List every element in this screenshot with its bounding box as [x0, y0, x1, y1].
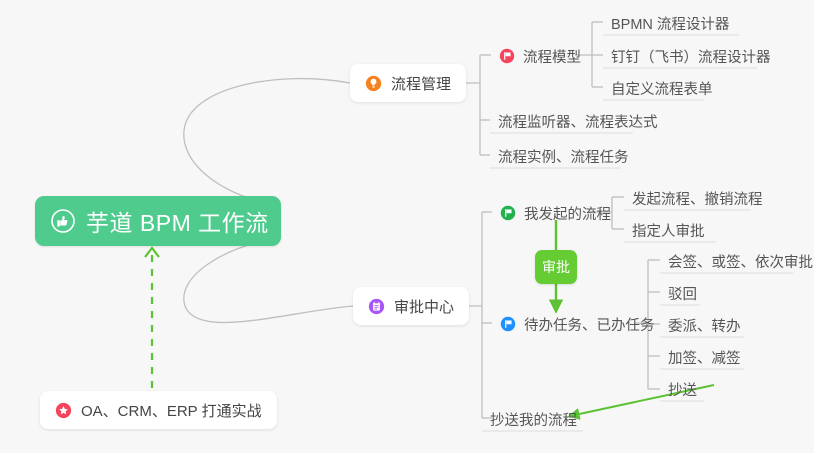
branch-label: 流程管理	[391, 73, 451, 94]
leaf-label: 钉钉（飞书）流程设计器	[611, 46, 771, 67]
leaf-label: 加签、减签	[668, 347, 741, 368]
leaf-reject[interactable]: 驳回	[660, 278, 705, 308]
branch-label: 审批中心	[394, 296, 454, 317]
flag-icon	[499, 48, 515, 64]
leaf-label: 发起流程、撤销流程	[632, 188, 763, 209]
leaf-bpmn-designer[interactable]: BPMN 流程设计器	[603, 8, 737, 38]
node-todo-done-tasks[interactable]: 待办任务、已办任务	[492, 309, 663, 339]
leaf-add-remove-sign[interactable]: 加签、减签	[660, 342, 749, 372]
leaf-delegate-transfer[interactable]: 委派、转办	[660, 310, 749, 340]
node-my-initiated[interactable]: 我发起的流程	[492, 198, 619, 228]
leaf-start-cancel-process[interactable]: 发起流程、撤销流程	[624, 183, 771, 213]
leaf-cc-to-me[interactable]: 抄送我的流程	[482, 404, 585, 434]
footnote-label: OA、CRM、ERP 打通实战	[81, 400, 262, 421]
star-icon	[55, 402, 72, 419]
approval-badge[interactable]: 审批	[535, 250, 577, 284]
leaf-label: 会签、或签、依次审批	[668, 251, 813, 272]
root-label: 芋道 BPM 工作流	[86, 204, 269, 238]
flag-icon	[500, 316, 516, 332]
leaf-label: BPMN 流程设计器	[611, 13, 729, 34]
node-label: 我发起的流程	[524, 203, 611, 224]
branch-approval-center[interactable]: 审批中心	[353, 287, 469, 325]
leaf-label: 自定义流程表单	[611, 78, 713, 99]
leaf-assignee-approval[interactable]: 指定人审批	[624, 215, 713, 245]
approval-badge-label: 审批	[542, 257, 570, 277]
leaf-label: 指定人审批	[632, 220, 705, 241]
node-label: 待办任务、已办任务	[524, 314, 655, 335]
mindmap-canvas: 芋道 BPM 工作流 流程管理 流程模型 BPMN 流程设计器 钉钉（飞书）流程…	[0, 0, 814, 453]
leaf-label: 抄送我的流程	[490, 409, 577, 430]
leaf-process-instance[interactable]: 流程实例、流程任务	[490, 141, 637, 171]
node-label: 流程模型	[523, 46, 581, 67]
leaf-process-listener[interactable]: 流程监听器、流程表达式	[490, 106, 666, 136]
leaf-dingtalk-designer[interactable]: 钉钉（飞书）流程设计器	[603, 41, 779, 71]
lightbulb-icon	[365, 75, 382, 92]
leaf-countersign[interactable]: 会签、或签、依次审批	[660, 246, 814, 276]
flag-icon	[500, 205, 516, 221]
leaf-custom-form[interactable]: 自定义流程表单	[603, 73, 721, 103]
root-node[interactable]: 芋道 BPM 工作流	[35, 196, 281, 246]
thumbs-up-icon	[51, 209, 75, 233]
clipboard-icon	[368, 298, 385, 315]
footnote-arrowhead	[145, 248, 159, 257]
leaf-label: 驳回	[668, 283, 697, 304]
leaf-label: 委派、转办	[668, 315, 741, 336]
leaf-cc[interactable]: 抄送	[660, 374, 705, 404]
branch-process-management[interactable]: 流程管理	[350, 64, 466, 102]
leaf-label: 流程监听器、流程表达式	[498, 111, 658, 132]
footnote-node[interactable]: OA、CRM、ERP 打通实战	[40, 391, 277, 429]
node-process-model[interactable]: 流程模型	[491, 41, 589, 71]
leaf-label: 抄送	[668, 379, 697, 400]
leaf-label: 流程实例、流程任务	[498, 146, 629, 167]
